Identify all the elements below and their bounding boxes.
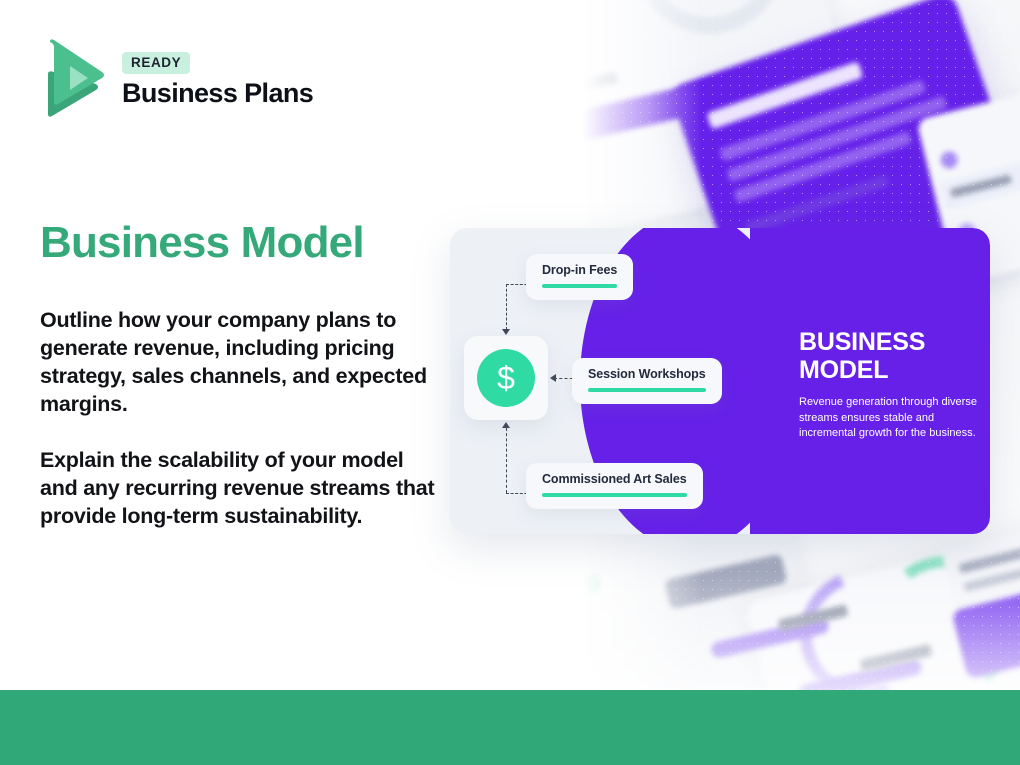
connector-top-vertical [506,284,507,330]
revenue-center-node: $ [464,336,548,420]
svg-text:$: $ [497,360,515,396]
panel-title-line-2: MODEL [799,356,888,384]
business-model-diagram-card: BUSINESS MODEL Revenue generation throug… [450,228,990,534]
panel-title: BUSINESS MODEL [799,328,989,384]
panel-title-line-1: BUSINESS [799,328,925,356]
body-copy: Outline how your company plans to genera… [40,306,440,530]
stream-card[interactable]: Drop-in Fees [526,254,633,300]
body-paragraph-2: Explain the scalability of your model an… [40,446,440,530]
connector-bottom-vertical [506,428,507,493]
dollar-sign-icon: $ [477,349,535,407]
connector-middle-arrow [550,374,556,382]
stream-label: Drop-in Fees [542,263,617,277]
brand-logo-block: READY Business Plans [40,38,313,118]
stream-card[interactable]: Commissioned Art Sales [526,463,703,509]
footer-bar [0,690,1020,765]
brand-name: Business Plans [122,78,313,109]
stream-card[interactable]: Session Workshops [572,358,722,404]
panel-text-block: BUSINESS MODEL Revenue generation throug… [799,328,989,442]
connector-top-arrow [502,329,510,335]
ready-badge: READY [122,52,190,74]
play-triangle-logo-icon [40,38,108,118]
connector-bottom-arrow [502,422,510,428]
slide-root: READY Business Plans Business Model Outl… [0,0,1020,765]
stream-underline [542,493,687,497]
background-bottom-fade [582,570,1020,690]
stream-label: Session Workshops [588,367,706,381]
body-paragraph-1: Outline how your company plans to genera… [40,306,440,418]
stream-label: Commissioned Art Sales [542,472,687,486]
page-title: Business Model [40,218,364,268]
brand-text: READY Business Plans [122,48,313,109]
stream-underline [542,284,617,288]
panel-description: Revenue generation through diverse strea… [799,395,989,442]
stream-underline [588,388,706,392]
